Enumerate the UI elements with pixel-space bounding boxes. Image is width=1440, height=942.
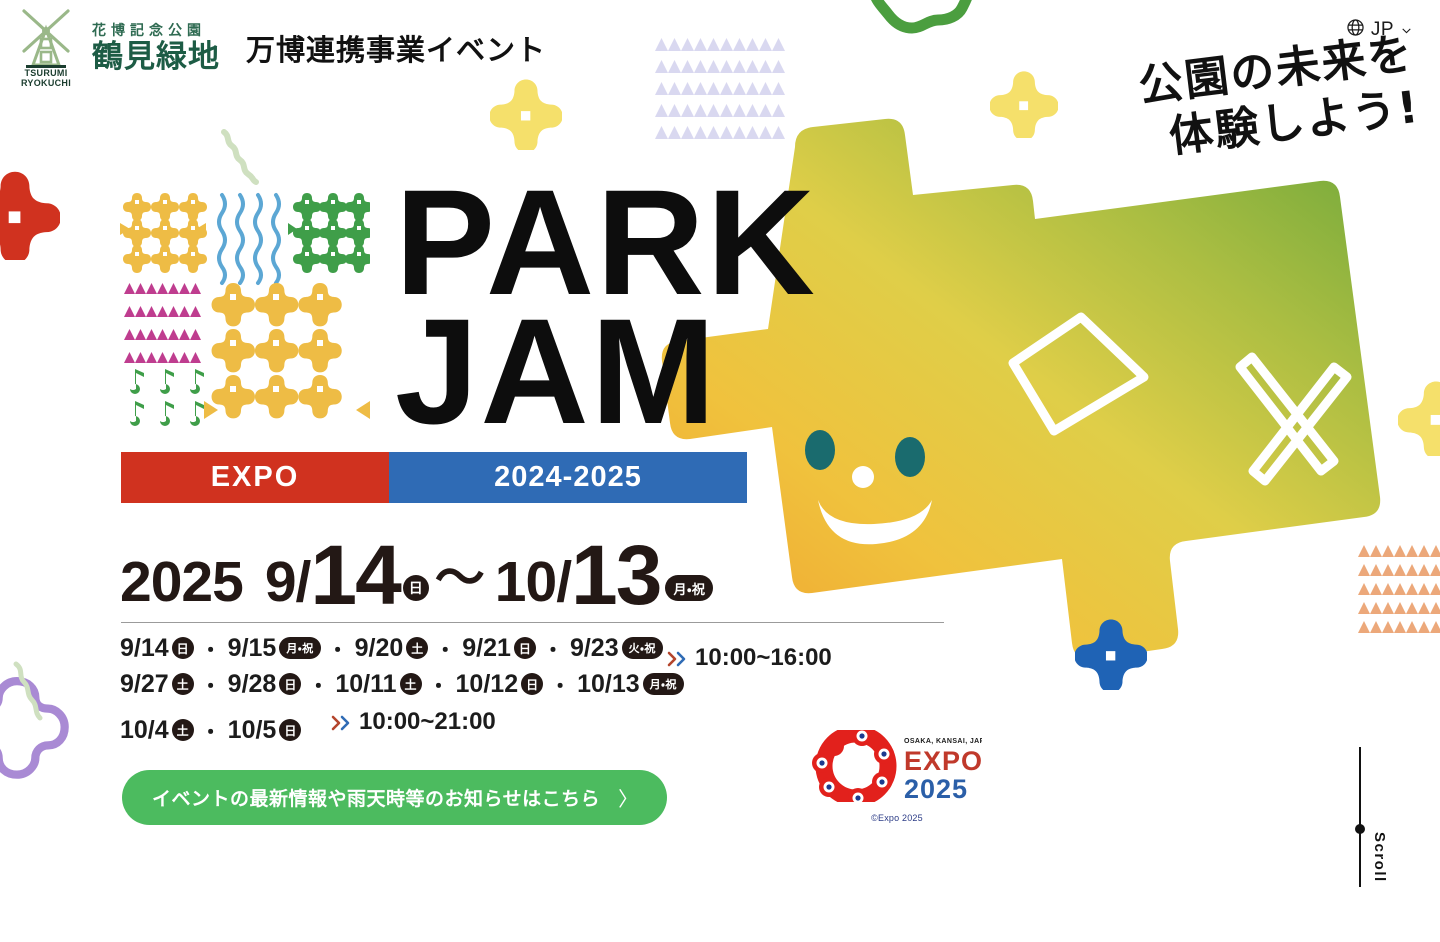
schedule-date: 9/27 xyxy=(120,670,169,699)
schedule-row-dates: 10/4土 ・ 10/5日 xyxy=(120,716,301,745)
date-headline-tilde: 〜 xyxy=(435,553,485,603)
schedule-dow-badge: 土 xyxy=(172,673,194,695)
news-cta-button[interactable]: イベントの最新情報や雨天時等のお知らせはこちら 〉 xyxy=(122,770,667,825)
schedule-dow-badge: 月・祝 xyxy=(279,637,320,659)
park-jam-wordmark: PARK JAM xyxy=(395,178,817,436)
schedule-separator: ・ xyxy=(543,634,563,663)
scroll-label: Scroll xyxy=(1371,832,1388,883)
chevron-down-icon[interactable] xyxy=(1400,24,1412,36)
schedule-time-secondary: 10:00~21:00 xyxy=(330,708,496,736)
schedule-dow-badge: 日 xyxy=(514,637,536,659)
date-headline-start-day: 14 xyxy=(310,539,399,611)
schedule-dow-badge: 土 xyxy=(400,673,422,695)
scroll-indicator[interactable]: Scroll xyxy=(1371,832,1388,887)
schedule-date: 9/21 xyxy=(462,634,511,663)
schedule-date: 10/5 xyxy=(228,716,277,745)
scroll-rail xyxy=(1359,747,1361,887)
double-chevron-right-icon xyxy=(666,648,688,668)
wordmark-line2: JAM xyxy=(395,307,817,436)
news-cta-label: イベントの最新情報や雨天時等のお知らせはこちら xyxy=(152,784,600,811)
language-switcher[interactable]: JP xyxy=(1346,18,1412,42)
schedule-separator: ・ xyxy=(308,670,328,699)
brand-mark-en-line2: RYOKUCHI xyxy=(21,78,71,88)
schedule-row: 9/27土 ・ 9/28日 ・ 10/11土 ・ 10/12日 ・ 10/13月… xyxy=(120,666,1020,702)
schedule-row-dates: 9/14日 ・ 9/15月・祝 ・ 9/20土 ・ 9/21日 ・ 9/23火・… xyxy=(120,634,663,663)
brand-logo[interactable]: TSURUMI RYOKUCHI 花博記念公園 鶴見緑地 xyxy=(14,7,220,89)
schedule-separator: ・ xyxy=(201,716,221,745)
language-label: JP xyxy=(1371,19,1394,41)
schedule-date: 10/13 xyxy=(577,670,640,699)
brand-mark-en-line1: TSURUMI xyxy=(24,68,67,78)
schedule-date: 9/23 xyxy=(570,634,619,663)
schedule-separator: ・ xyxy=(435,634,455,663)
schedule-dow-badge: 土 xyxy=(406,637,428,659)
date-headline-start-dow: 日 xyxy=(403,575,429,601)
schedule-dow-badge: 火・祝 xyxy=(622,637,663,659)
schedule-dow-badge: 日 xyxy=(279,673,301,695)
pattern-block-decoration xyxy=(118,191,370,436)
sage-squiggle-bottom-decoration xyxy=(8,660,54,730)
expo-logo-word: EXPO xyxy=(904,746,982,776)
red-flower-decoration xyxy=(0,170,60,260)
site-header: TSURUMI RYOKUCHI 花博記念公園 鶴見緑地 万博連携事業イベント … xyxy=(0,0,1440,96)
double-chevron-right-icon xyxy=(330,712,352,732)
expo-logo-supertext: OSAKA, KANSAI, JAPAN xyxy=(904,738,982,745)
schedule-time-primary-label: 10:00~16:00 xyxy=(695,644,832,672)
schedule-date: 10/12 xyxy=(456,670,519,699)
windmill-icon: TSURUMI RYOKUCHI xyxy=(14,7,78,89)
chevron-right-icon: 〉 xyxy=(618,783,639,812)
date-headline-year: 2025 xyxy=(120,554,243,611)
hero-page: TSURUMI RYOKUCHI 花博記念公園 鶴見緑地 万博連携事業イベント … xyxy=(0,0,1440,942)
expo-logo-credit: ©Expo 2025 xyxy=(812,813,982,823)
brand-text: 花博記念公園 鶴見緑地 xyxy=(92,23,220,73)
sage-squiggle-decoration xyxy=(218,126,288,196)
date-headline: 2025 9/ 14 日 〜 10/ 13 月・祝 xyxy=(120,539,713,611)
schedule-separator: ・ xyxy=(550,670,570,699)
expo-logo-year: 2025 xyxy=(904,774,968,802)
scroll-dot xyxy=(1355,824,1365,834)
schedule-date: 9/28 xyxy=(228,670,277,699)
schedule-separator: ・ xyxy=(328,634,348,663)
brand-name: 鶴見緑地 xyxy=(92,41,220,74)
schedule-time-secondary-label: 10:00~21:00 xyxy=(359,708,496,736)
globe-icon xyxy=(1346,18,1365,42)
page-title: 万博連携事業イベント xyxy=(246,27,546,69)
schedule-dow-badge: 日 xyxy=(172,637,194,659)
expo2025-logo: OSAKA, KANSAI, JAPAN EXPO 2025 ©Expo 202… xyxy=(812,730,982,823)
schedule-separator: ・ xyxy=(429,670,449,699)
expo-bar-right: 2024-2025 xyxy=(389,452,747,503)
expo-year-bar: EXPO 2024-2025 xyxy=(121,452,747,503)
schedule-date: 9/15 xyxy=(228,634,277,663)
date-headline-end-dow: 月・祝 xyxy=(665,575,713,601)
expo-bar-left: EXPO xyxy=(121,452,389,503)
schedule-separator: ・ xyxy=(201,670,221,699)
brand-kicker: 花博記念公園 xyxy=(92,23,220,40)
schedule-dow-badge: 日 xyxy=(279,719,301,741)
schedule-date: 9/20 xyxy=(355,634,404,663)
divider xyxy=(121,622,944,623)
schedule-row-dates: 9/27土 ・ 9/28日 ・ 10/11土 ・ 10/12日 ・ 10/13月… xyxy=(120,670,684,699)
date-headline-end-month: 10/ xyxy=(495,554,571,611)
schedule-date: 9/14 xyxy=(120,634,169,663)
date-headline-end-day: 13 xyxy=(571,539,660,611)
purple-outline-flower-decoration xyxy=(0,672,72,782)
schedule-date: 10/11 xyxy=(335,670,396,699)
schedule-dow-badge: 土 xyxy=(172,719,194,741)
schedule-time-primary: 10:00~16:00 xyxy=(666,644,832,672)
schedule-date: 10/4 xyxy=(120,716,169,745)
schedule-dow-badge: 月・祝 xyxy=(643,673,684,695)
date-headline-start-month: 9/ xyxy=(265,554,311,611)
brand-mark-en: TSURUMI RYOKUCHI xyxy=(14,69,78,89)
schedule-dow-badge: 日 xyxy=(521,673,543,695)
schedule-separator: ・ xyxy=(201,634,221,663)
schedule-row: 9/14日 ・ 9/15月・祝 ・ 9/20土 ・ 9/21日 ・ 9/23火・… xyxy=(120,630,1020,666)
